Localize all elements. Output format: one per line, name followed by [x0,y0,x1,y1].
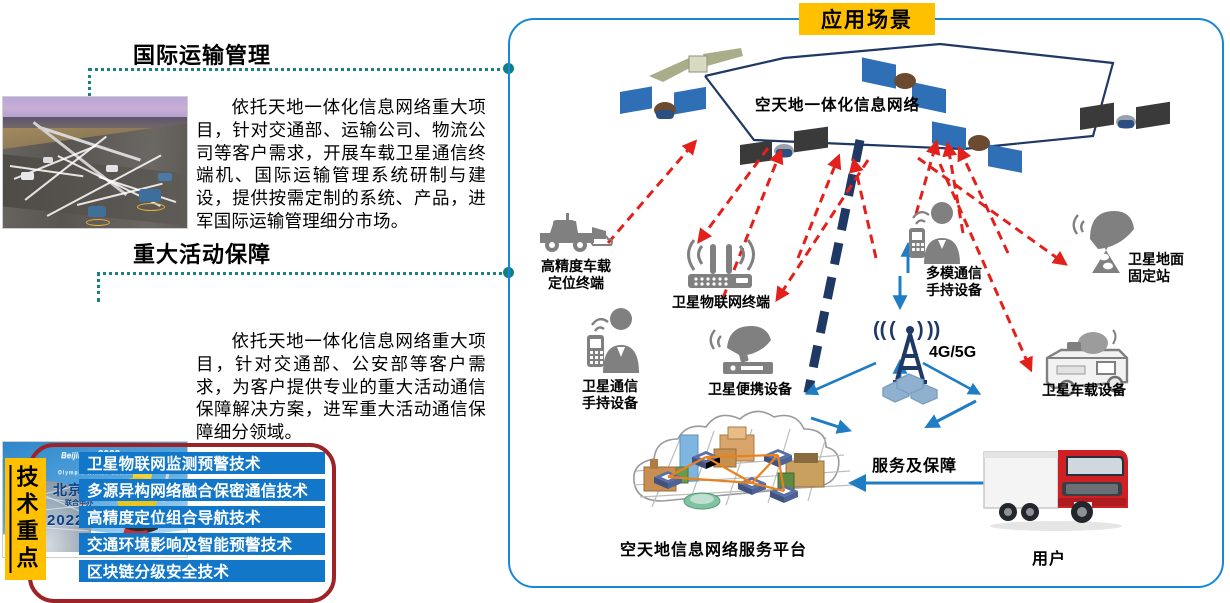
satellite-handheld-comm-icon [577,305,647,375]
tech-item-label: 区块链分级安全技术 [87,560,229,582]
svg-text:): ) [917,319,924,341]
label-vehicle-positioning-terminal: 高精度车载 定位终端 [528,258,624,291]
svg-text:)): )) [927,319,940,341]
label-multimode-handheld-device: 多模通信 手持设备 [926,265,1018,298]
tech-focus-badge-label: 技术重点 [10,465,42,573]
tech-item-2[interactable]: 高精度定位组合导航技术 [79,506,325,528]
label-satellite-ground-station: 卫星地面 固定站 [1128,251,1212,284]
mobile-network-tower-icon: ((())) [873,318,983,406]
platform-label: 空天地信息网络服务平台 [620,536,807,560]
tech-item-4[interactable]: 区块链分级安全技术 [79,560,325,582]
user-label: 用户 [1032,545,1066,569]
svg-text:(: ( [889,319,896,341]
svg-text:((: (( [873,319,887,341]
tech-item-label: 交通环境影响及智能预警技术 [87,533,292,555]
multimode-handheld-device-icon [900,200,968,266]
section-title-major-event-support: 重大活动保障 [133,237,271,269]
label-satellite-vehicle-device: 卫星车载设备 [1028,382,1140,399]
mobile-network-label: 4G/5G [929,344,976,362]
tech-item-1[interactable]: 多源异构网络融合保密通信技术 [79,479,325,501]
section-body-text-2: 依托天地一体化信息网络重大项目，针对交通部、公安部等客户需求，为客户提供专业的重… [196,331,486,442]
highway-logistics-photo [2,96,188,229]
connector-elbow-section-1 [88,68,91,96]
tech-item-0[interactable]: 卫星物联网监测预警技术 [79,452,325,474]
tech-item-3[interactable]: 交通环境影响及智能预警技术 [79,533,325,555]
tech-item-label: 多源异构网络融合保密通信技术 [87,479,308,501]
section-body-major-event-support: 依托天地一体化信息网络重大项目，针对交通部、公安部等客户需求，为客户提供专业的重… [196,330,486,444]
label-satellite-handheld-comm: 卫星通信 手持设备 [558,378,662,411]
connector-line-section-2 [97,272,508,275]
high-precision-vehicle-terminal-icon [536,203,614,255]
tech-item-label: 卫星物联网监测预警技术 [87,452,261,474]
connector-elbow-section-2 [97,272,100,302]
satellite-iot-terminal-icon [680,230,760,292]
satellite-ground-station-icon [1068,205,1136,277]
section-title-international-transport: 国际运输管理 [133,38,271,70]
label-satellite-portable-device: 卫星便携设备 [694,381,806,398]
section-body-international-transport: 依托天地一体化信息网络重大项目，针对交通部、运输公司、物流公司等客户需求，开展车… [196,96,486,233]
connector-line-section-1 [88,68,508,71]
user-truck-icon [978,436,1134,536]
service-guarantee-label: 服务及保障 [872,452,957,476]
label-satellite-iot-terminal: 卫星物联网终端 [660,294,782,311]
tech-focus-badge: 技术重点 [5,458,46,580]
tech-item-label: 高精度定位组合导航技术 [87,506,261,528]
satellite-portable-device-icon [705,320,785,380]
network-service-platform-cloud [618,415,878,535]
section-body-text-1: 依托天地一体化信息网络重大项目，针对交通部、运输公司、物流公司等客户需求，开展车… [196,97,486,231]
